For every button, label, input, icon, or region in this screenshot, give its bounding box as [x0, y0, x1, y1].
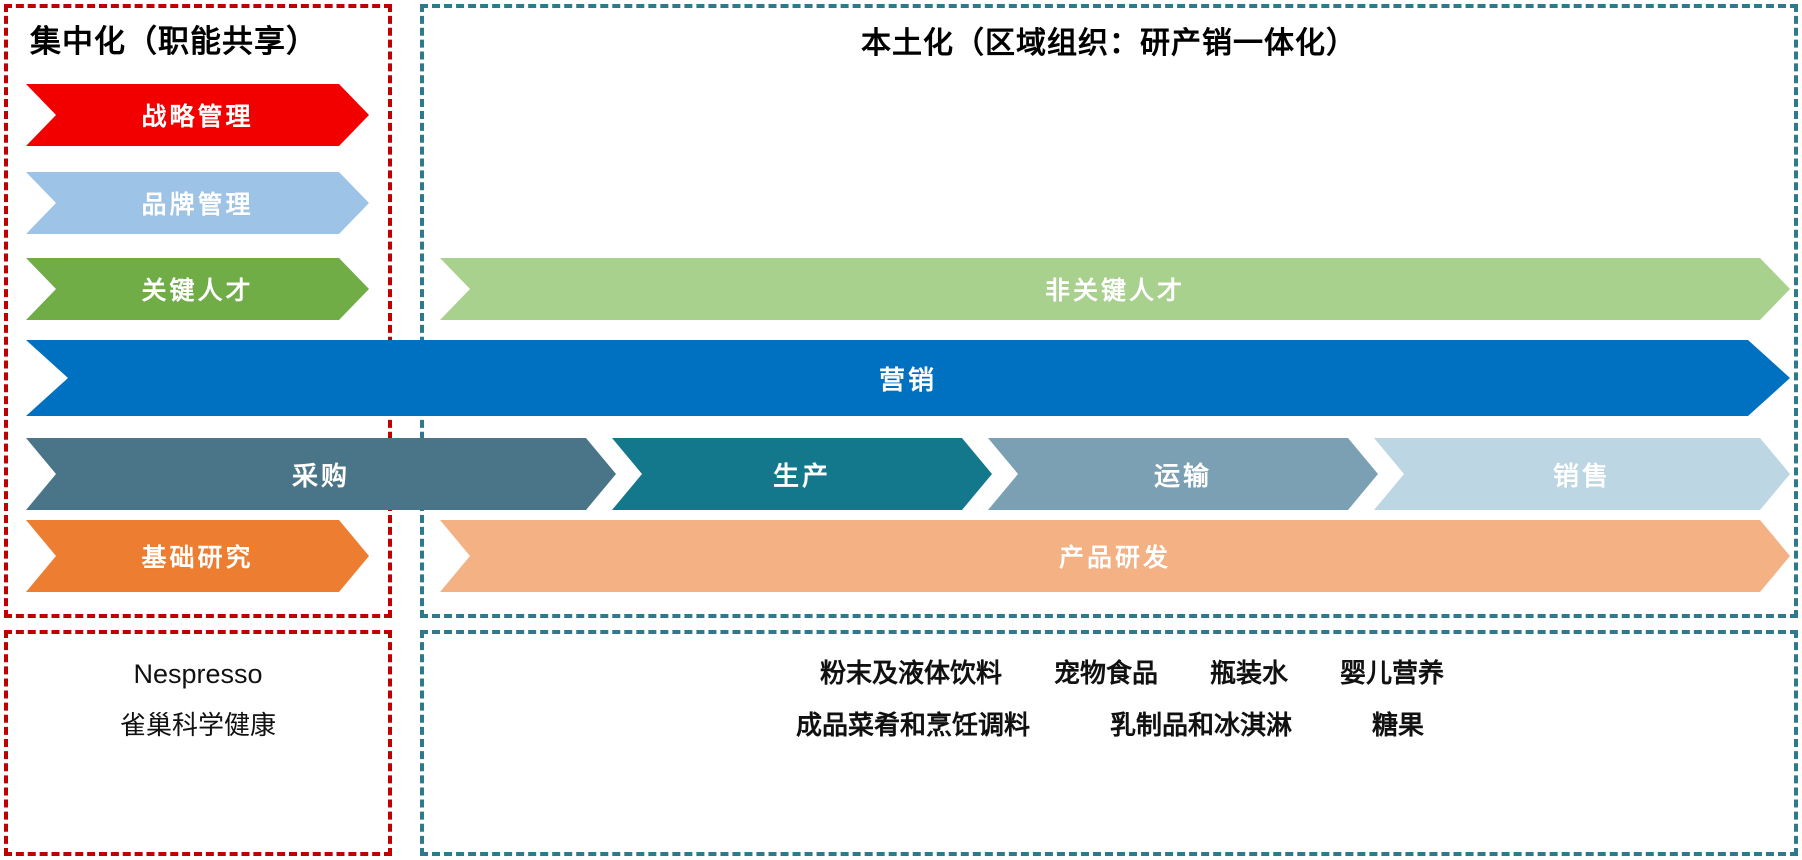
chevron-label: 产品研发	[1059, 538, 1171, 574]
row-marketing: 营销	[0, 340, 1802, 416]
chevron-basic-research[interactable]: 基础研究	[26, 520, 369, 592]
chevron-label: 采购	[292, 456, 350, 493]
footer-right-item: 瓶装水	[1210, 648, 1288, 700]
chevron-label: 品牌管理	[141, 185, 253, 221]
chevron-label: 战略管理	[141, 97, 253, 133]
footer-right-item: 粉末及液体饮料	[820, 648, 1002, 700]
footer-left-line-1: Nespresso	[4, 648, 392, 700]
row-supply-chain: 采购 生产 运输 销售	[0, 438, 1802, 510]
chevron-production[interactable]: 生产	[612, 438, 992, 510]
chevron-marketing[interactable]: 营销	[26, 340, 1790, 416]
chevron-sales[interactable]: 销售	[1374, 438, 1790, 510]
row-brand: 品牌管理	[0, 172, 1802, 234]
chevron-label: 销售	[1553, 456, 1611, 493]
chevron-key-talent[interactable]: 关键人才	[26, 258, 369, 320]
row-strategy: 战略管理	[0, 84, 1802, 146]
centralization-footer-text: Nespresso 雀巢科学健康	[4, 648, 392, 752]
chevron-label: 关键人才	[141, 271, 253, 307]
chevron-strategy-management[interactable]: 战略管理	[26, 84, 369, 146]
diagram-canvas: 集中化（职能共享） 本土化（区域组织：研产销一体化） 战略管理 品牌管理 关键人…	[0, 0, 1802, 860]
chevron-label: 生产	[773, 456, 831, 493]
footer-right-item: 糖果	[1372, 700, 1424, 752]
chevron-label: 营销	[879, 360, 937, 397]
footer-right-line-2: 成品菜肴和烹饪调料 乳制品和冰淇淋 糖果	[440, 700, 1780, 752]
chevron-label: 运输	[1154, 456, 1212, 493]
footer-right-item: 成品菜肴和烹饪调料	[796, 700, 1030, 752]
centralization-panel-title: 集中化（职能共享）	[30, 16, 318, 61]
chevron-label: 非关键人才	[1045, 271, 1185, 307]
chevron-procurement[interactable]: 采购	[26, 438, 616, 510]
localization-panel-title: 本土化（区域组织：研产销一体化）	[420, 18, 1798, 62]
footer-right-item: 婴儿营养	[1340, 648, 1444, 700]
chevron-product-development[interactable]: 产品研发	[440, 520, 1790, 592]
chevron-label: 基础研究	[141, 538, 253, 574]
localization-footer-text: 粉末及液体饮料 宠物食品 瓶装水 婴儿营养 成品菜肴和烹饪调料 乳制品和冰淇淋 …	[440, 648, 1780, 752]
chevron-non-key-talent[interactable]: 非关键人才	[440, 258, 1790, 320]
footer-right-item: 宠物食品	[1054, 648, 1158, 700]
row-research-development: 基础研究 产品研发	[0, 520, 1802, 592]
chevron-transport[interactable]: 运输	[988, 438, 1378, 510]
footer-left-line-2: 雀巢科学健康	[4, 700, 392, 752]
footer-right-line-1: 粉末及液体饮料 宠物食品 瓶装水 婴儿营养	[440, 648, 1780, 700]
footer-right-item: 乳制品和冰淇淋	[1110, 700, 1292, 752]
row-talent: 关键人才 非关键人才	[0, 258, 1802, 320]
chevron-brand-management[interactable]: 品牌管理	[26, 172, 369, 234]
